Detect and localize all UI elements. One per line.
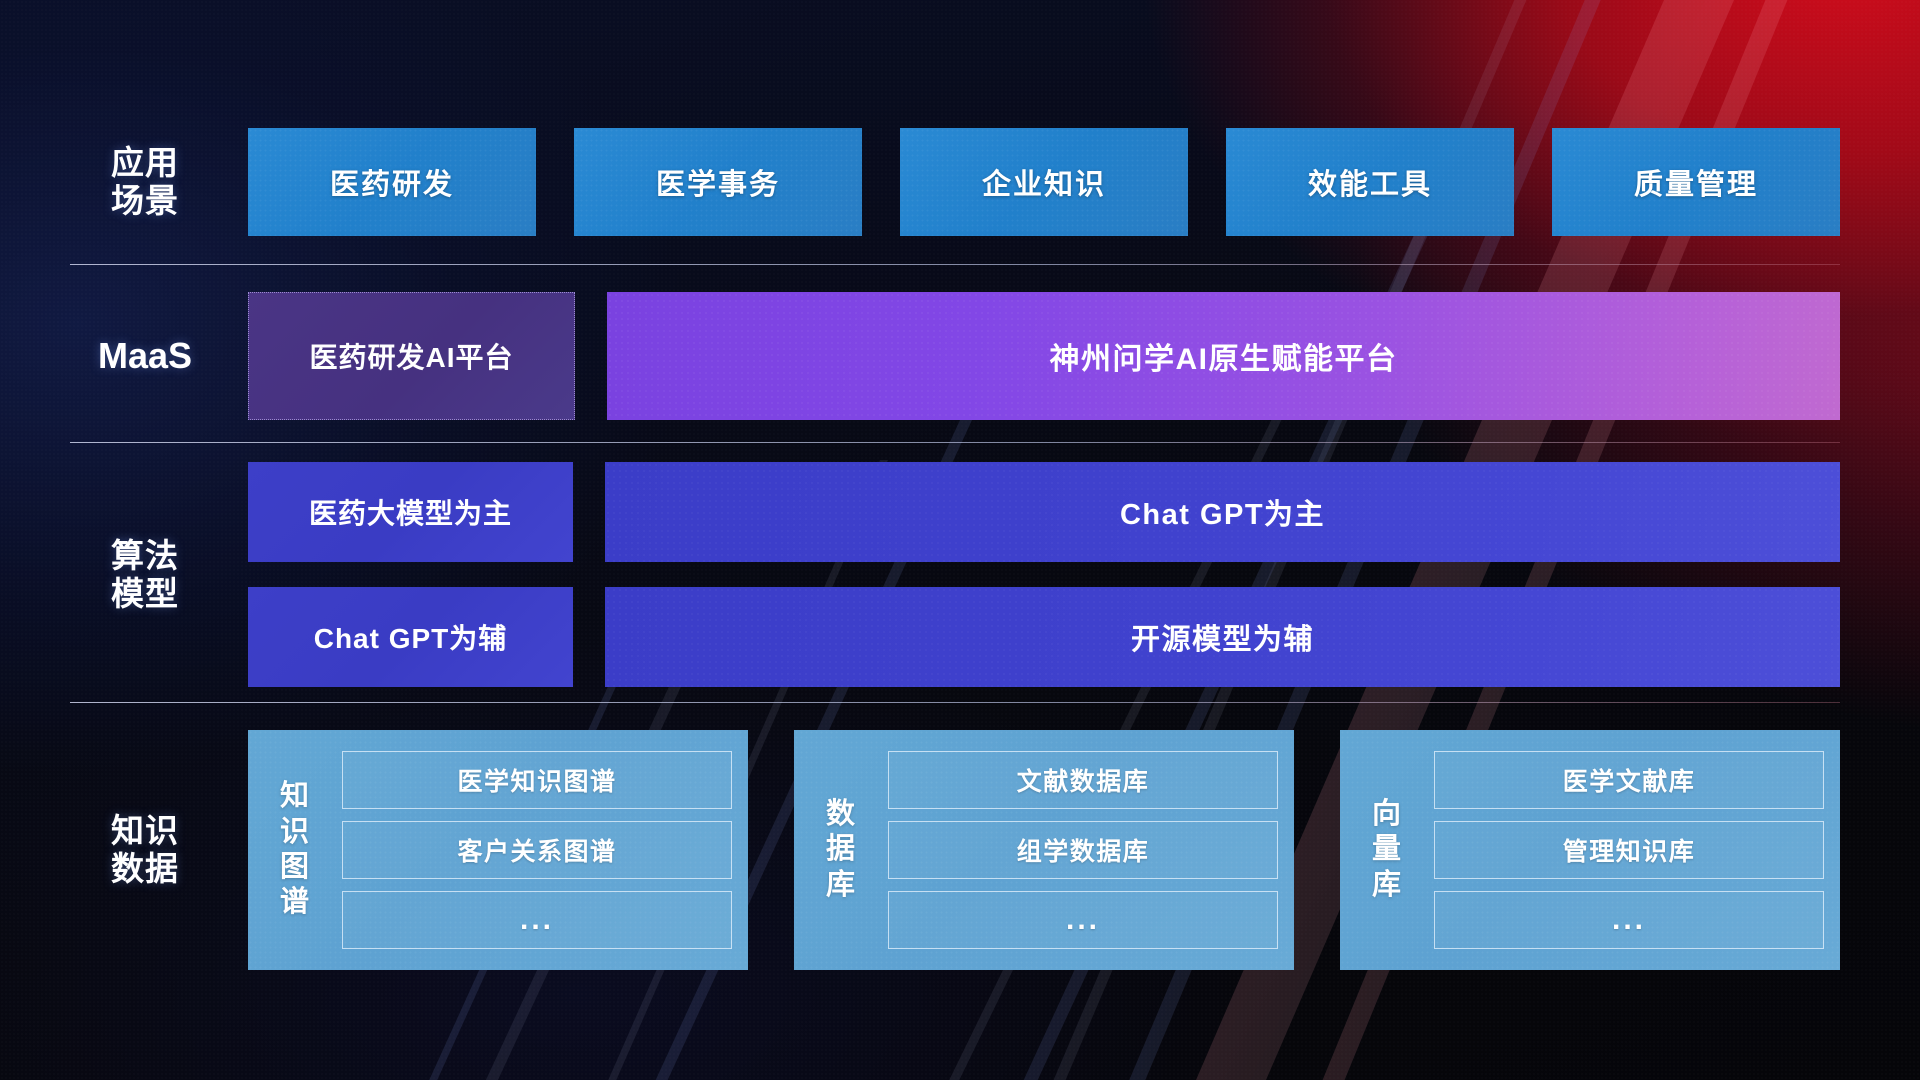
knowledge-group-title-char: 图 (280, 850, 310, 885)
app-box-enterprise-knowledge[interactable]: 企业知识 (900, 128, 1188, 236)
algorithm-row-secondary: Chat GPT为辅 开源模型为辅 (248, 587, 1840, 687)
knowledge-group-title-char: 数 (826, 797, 856, 832)
row-label-algorithm: 算法 模型 (70, 462, 220, 687)
algo-box-chatgpt-primary[interactable]: Chat GPT为主 (605, 462, 1840, 562)
knowledge-group-vector-store: 向量库 医学文献库 管理知识库 ... (1340, 730, 1840, 970)
knowledge-item-more-vector-store[interactable]: ... (1434, 891, 1824, 949)
maas-strip: 医药研发AI平台 神州问学AI原生赋能平台 (248, 292, 1840, 420)
row-label-knowledge: 知识 数据 (70, 730, 220, 970)
knowledge-group-title-char: 库 (1372, 868, 1402, 903)
knowledge-group-title-knowledge-graph: 知识图谱 (258, 744, 332, 956)
application-scenario-strip: 医药研发 医学事务 企业知识 效能工具 质量管理 (248, 128, 1840, 236)
knowledge-group-knowledge-graph: 知识图谱 医学知识图谱 客户关系图谱 ... (248, 730, 748, 970)
knowledge-item-medical-knowledge-graph[interactable]: 医学知识图谱 (342, 751, 732, 809)
algo-box-chatgpt-secondary[interactable]: Chat GPT为辅 (248, 587, 573, 687)
knowledge-group-items-knowledge-graph: 医学知识图谱 客户关系图谱 ... (332, 744, 732, 956)
app-box-efficiency-tools[interactable]: 效能工具 (1226, 128, 1514, 236)
knowledge-item-customer-relation-graph[interactable]: 客户关系图谱 (342, 821, 732, 879)
row-label-maas: MaaS (70, 292, 220, 420)
knowledge-item-omics-database[interactable]: 组学数据库 (888, 821, 1278, 879)
divider-maas-algorithm (70, 442, 1840, 443)
knowledge-group-title-char: 谱 (280, 885, 310, 920)
knowledge-group-database: 数据库 文献数据库 组学数据库 ... (794, 730, 1294, 970)
maas-box-shenzhou-wenxue-platform[interactable]: 神州问学AI原生赋能平台 (607, 292, 1840, 420)
knowledge-group-items-database: 文献数据库 组学数据库 ... (878, 744, 1278, 956)
knowledge-data-wrap: 知识图谱 医学知识图谱 客户关系图谱 ... 数据库 文献数据库 组学数据库 .… (248, 730, 1840, 970)
knowledge-item-medical-literature-store[interactable]: 医学文献库 (1434, 751, 1824, 809)
algorithm-model-wrap: 医药大模型为主 Chat GPT为主 Chat GPT为辅 开源模型为辅 (248, 462, 1840, 687)
knowledge-item-more-database[interactable]: ... (888, 891, 1278, 949)
knowledge-item-management-knowledge-store[interactable]: 管理知识库 (1434, 821, 1824, 879)
algorithm-row-primary: 医药大模型为主 Chat GPT为主 (248, 462, 1840, 562)
knowledge-item-more-knowledge-graph[interactable]: ... (342, 891, 732, 949)
app-box-drug-rd[interactable]: 医药研发 (248, 128, 536, 236)
knowledge-group-title-char: 量 (1372, 832, 1402, 867)
algo-box-opensource-secondary[interactable]: 开源模型为辅 (605, 587, 1840, 687)
algo-box-pharma-large-model-primary[interactable]: 医药大模型为主 (248, 462, 573, 562)
knowledge-group-title-char: 知 (280, 779, 310, 814)
knowledge-group-title-database: 数据库 (804, 744, 878, 956)
knowledge-group-title-char: 据 (826, 832, 856, 867)
divider-algorithm-knowledge (70, 702, 1840, 703)
maas-box-drug-rd-ai-platform[interactable]: 医药研发AI平台 (248, 292, 575, 420)
knowledge-group-title-char: 向 (1372, 797, 1402, 832)
knowledge-group-title-vector-store: 向量库 (1350, 744, 1424, 956)
app-box-medical-affairs[interactable]: 医学事务 (574, 128, 862, 236)
knowledge-item-literature-database[interactable]: 文献数据库 (888, 751, 1278, 809)
knowledge-group-items-vector-store: 医学文献库 管理知识库 ... (1424, 744, 1824, 956)
divider-application-maas (70, 264, 1840, 265)
knowledge-group-title-char: 识 (280, 815, 310, 850)
knowledge-group-title-char: 库 (826, 868, 856, 903)
diagram-canvas: 应用 场景 医药研发 医学事务 企业知识 效能工具 质量管理 MaaS 医药研发… (0, 0, 1920, 1080)
app-box-quality-management[interactable]: 质量管理 (1552, 128, 1840, 236)
row-label-application: 应用 场景 (70, 128, 220, 236)
